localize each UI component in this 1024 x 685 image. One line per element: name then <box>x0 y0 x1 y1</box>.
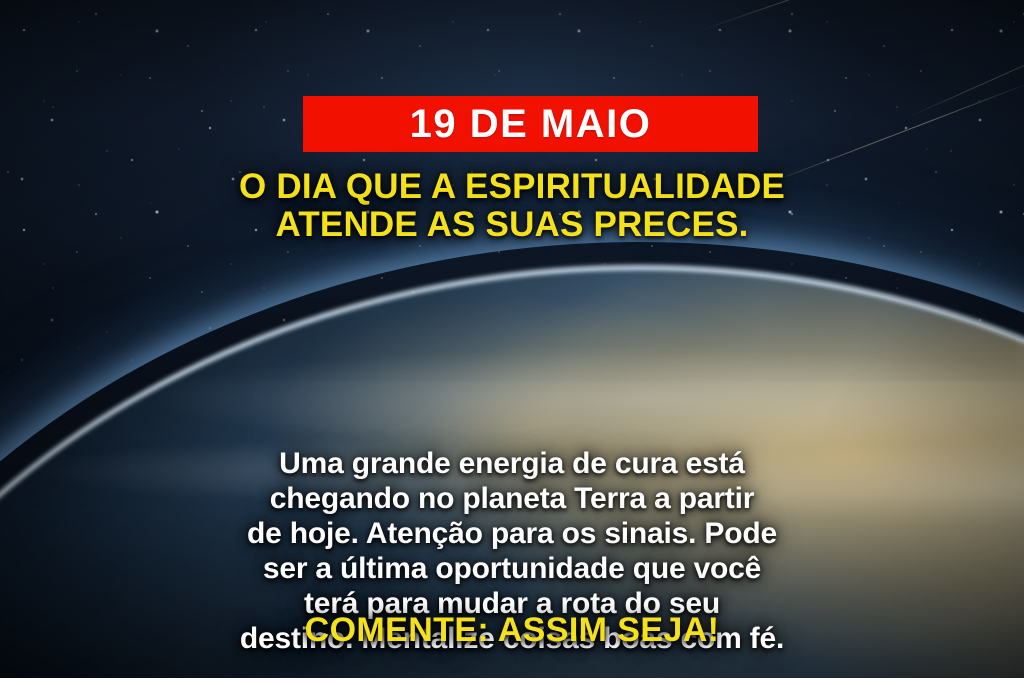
poster-content: 19 DE MAIO O DIA QUE A ESPIRITUALIDADE A… <box>0 0 1024 685</box>
headline: O DIA QUE A ESPIRITUALIDADE ATENDE AS SU… <box>0 168 1024 244</box>
call-to-action-text: COMENTE: ASSIM SEJA! <box>0 613 1024 647</box>
body-line-3: de hoje. Atenção para os sinais. Pode <box>50 516 974 551</box>
headline-line-1: O DIA QUE A ESPIRITUALIDADE <box>0 168 1024 206</box>
poster-canvas: 19 DE MAIO O DIA QUE A ESPIRITUALIDADE A… <box>0 0 1024 685</box>
bottom-white-strip <box>0 678 1024 685</box>
headline-line-2: ATENDE AS SUAS PRECES. <box>0 206 1024 244</box>
body-line-4: ser a última oportunidade que você <box>50 551 974 586</box>
date-banner: 19 DE MAIO <box>303 96 758 152</box>
date-banner-text: 19 DE MAIO <box>410 104 652 144</box>
body-line-2: chegando no planeta Terra a partir <box>50 481 974 516</box>
body-line-1: Uma grande energia de cura está <box>50 446 974 481</box>
